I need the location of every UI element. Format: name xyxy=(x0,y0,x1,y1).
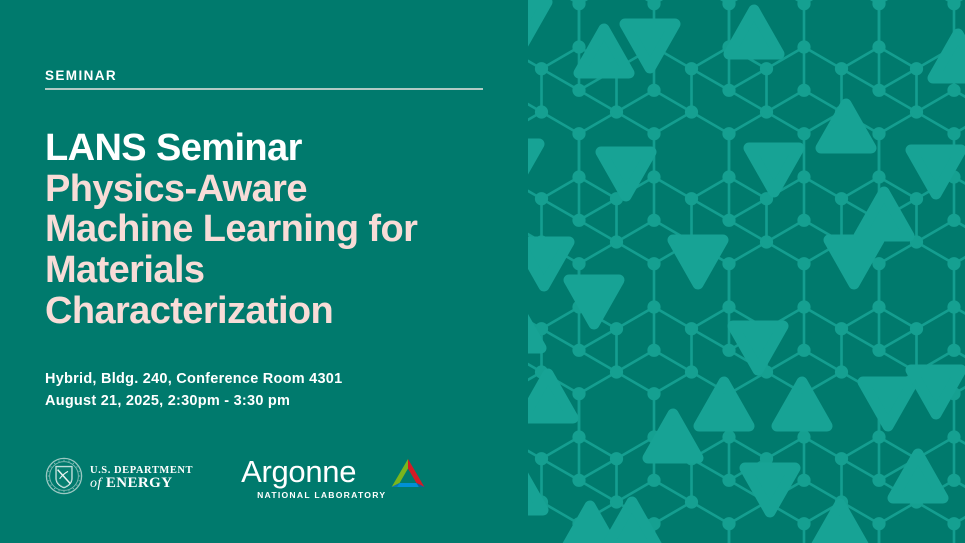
doe-wordmark-of: of xyxy=(90,476,102,491)
title-line-sub-3: Materials xyxy=(45,250,485,291)
doe-wordmark: U.S. DEPARTMENT of ENERGY xyxy=(90,465,193,492)
decorative-molecular-pattern xyxy=(528,0,965,543)
doe-wordmark-energy: ENERGY xyxy=(106,475,173,491)
argonne-tagline: NATIONAL LABORATORY xyxy=(257,490,386,500)
page-title: LANS Seminar Physics-Aware Machine Learn… xyxy=(45,128,485,331)
argonne-triangle-icon xyxy=(391,458,425,493)
logo-strip: U.S. DEPARTMENT of ENERGY Argonne NATION… xyxy=(45,456,425,500)
title-line-sub-4: Characterization xyxy=(45,291,485,332)
event-location: Hybrid, Bldg. 240, Conference Room 4301 xyxy=(45,368,495,390)
eyebrow-label: SEMINAR xyxy=(45,68,117,83)
title-line-sub-2: Machine Learning for xyxy=(45,209,485,250)
event-details: Hybrid, Bldg. 240, Conference Room 4301 … xyxy=(45,368,495,413)
doe-seal-icon xyxy=(45,457,83,500)
seminar-announcement-banner: SEMINAR LANS Seminar Physics-Aware Machi… xyxy=(0,0,965,543)
title-line-sub-1: Physics-Aware xyxy=(45,169,485,210)
doe-wordmark-line2: of ENERGY xyxy=(90,476,193,492)
title-line-main: LANS Seminar xyxy=(45,128,485,169)
eyebrow-divider xyxy=(45,88,483,90)
banner-content: SEMINAR LANS Seminar Physics-Aware Machi… xyxy=(45,0,515,543)
argonne-logo: Argonne NATIONAL LABORATORY xyxy=(241,456,425,500)
argonne-wordmark: Argonne NATIONAL LABORATORY xyxy=(241,456,386,500)
doe-logo: U.S. DEPARTMENT of ENERGY xyxy=(45,457,193,500)
event-datetime: August 21, 2025, 2:30pm - 3:30 pm xyxy=(45,390,495,412)
argonne-name: Argonne xyxy=(241,456,386,487)
